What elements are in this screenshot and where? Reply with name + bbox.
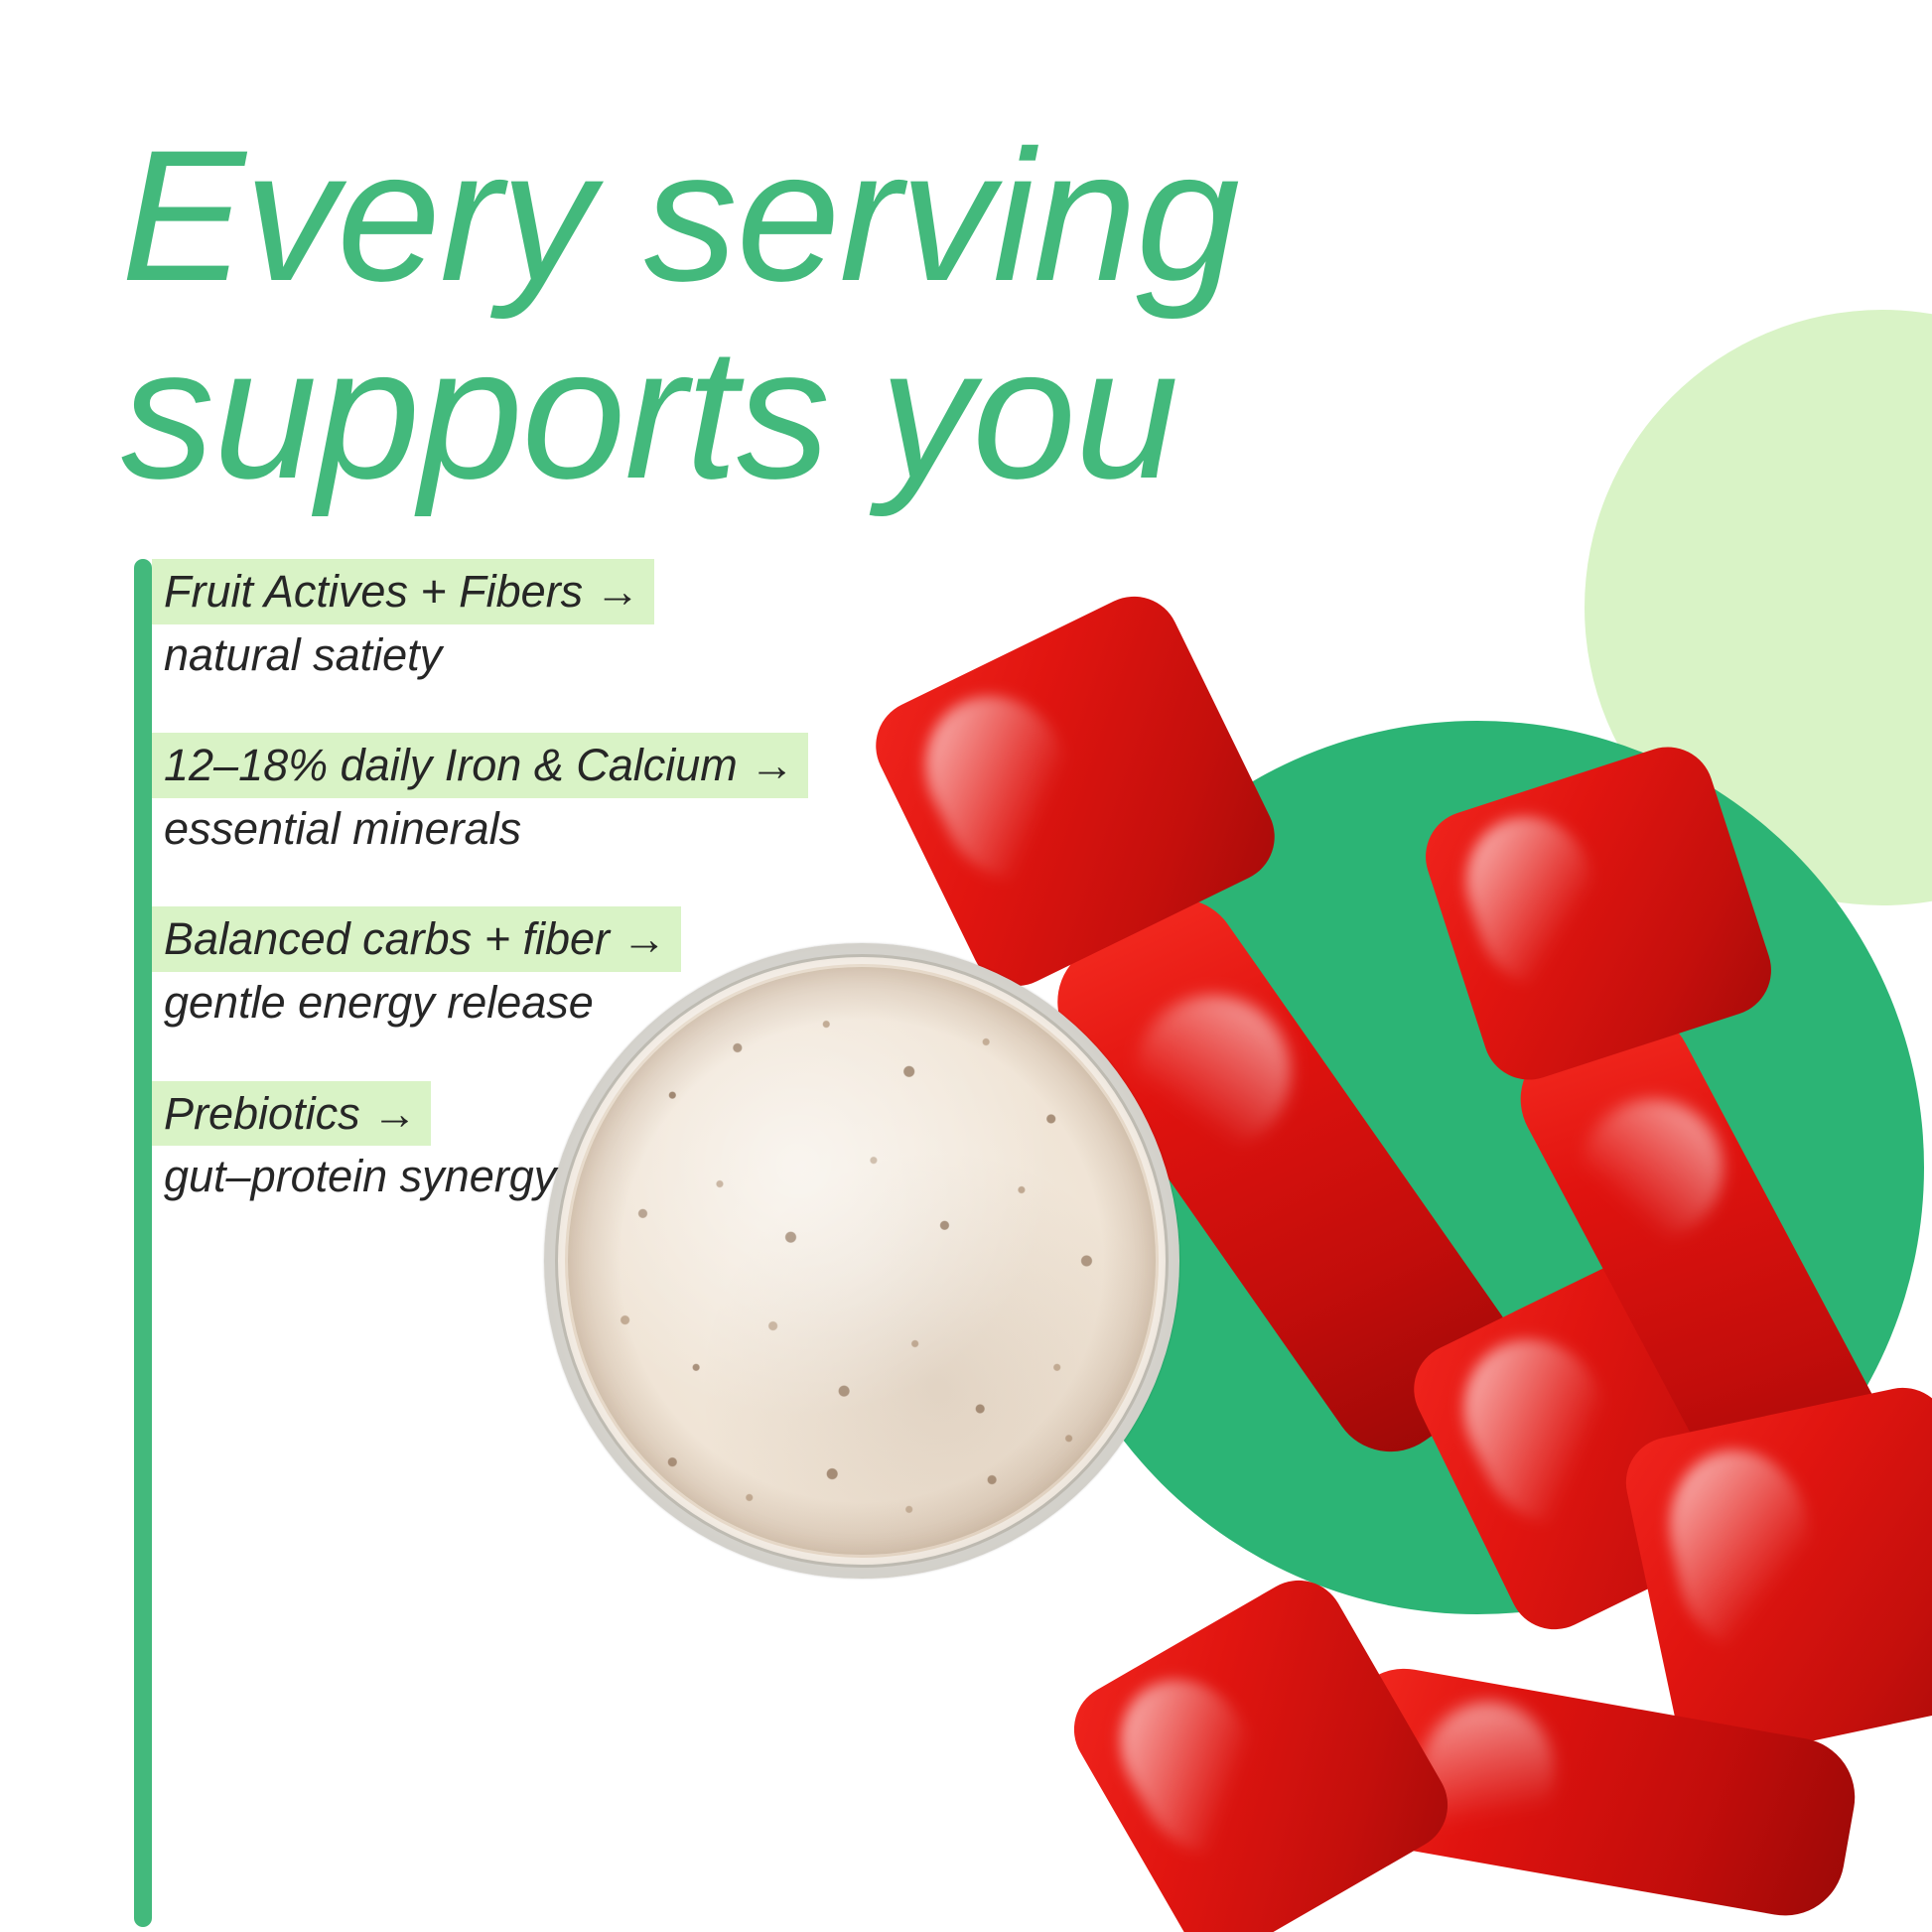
list-item: 12–18% daily Iron & Calcium → essential … bbox=[152, 733, 906, 857]
benefits-list: Fruit Actives + Fibers → natural satiety… bbox=[152, 559, 906, 1205]
list-item: Prebiotics → gut–protein synergy bbox=[152, 1081, 906, 1205]
headline-line-2: supports you bbox=[121, 315, 1233, 512]
headline-line-1: Every serving bbox=[121, 117, 1233, 315]
benefit-headline: Fruit Actives + Fibers → bbox=[152, 559, 654, 624]
benefit-headline: 12–18% daily Iron & Calcium → bbox=[152, 733, 808, 798]
dumbbell-handle bbox=[1324, 1659, 1863, 1925]
benefit-subline: gentle energy release bbox=[152, 972, 906, 1032]
benefit-headline: Balanced carbs + fiber → bbox=[152, 906, 681, 972]
benefit-subline: gut–protein synergy bbox=[152, 1146, 906, 1205]
list-item: Balanced carbs + fiber → gentle energy r… bbox=[152, 906, 906, 1031]
dumbbell-head bbox=[1057, 1564, 1464, 1932]
benefit-headline: Prebiotics → bbox=[152, 1081, 431, 1147]
green-circle bbox=[1031, 721, 1924, 1614]
benefit-subline: natural satiety bbox=[152, 624, 906, 684]
list-item: Fruit Actives + Fibers → natural satiety bbox=[152, 559, 906, 683]
benefit-subline: essential minerals bbox=[152, 798, 906, 858]
promo-canvas: Every serving supports you Fruit Actives… bbox=[0, 0, 1932, 1932]
page-title: Every serving supports you bbox=[121, 117, 1233, 513]
accent-rail bbox=[134, 559, 152, 1927]
